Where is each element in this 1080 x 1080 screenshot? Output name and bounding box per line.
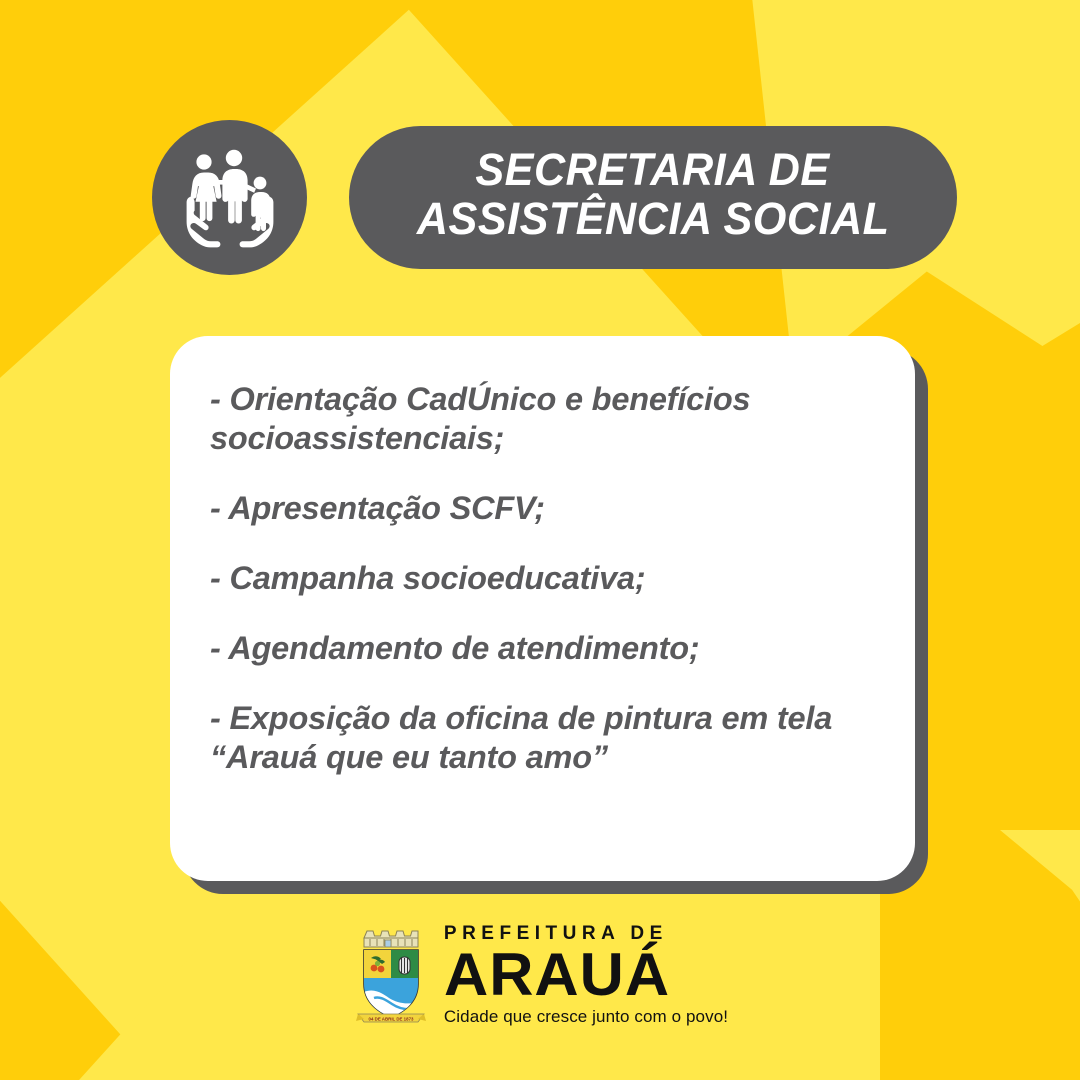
title-pill: SECRETARIA DE ASSISTÊNCIA SOCIAL xyxy=(349,126,957,269)
emblem-badge xyxy=(152,120,307,275)
family-in-hands-icon xyxy=(176,144,284,252)
footer-logo: 04 DE ABRIL DE 1873 PREFEITURA DE ARAUÁ … xyxy=(0,918,1080,1030)
list-item: - Orientação CadÚnico e benefícios socio… xyxy=(210,380,885,458)
list-item: - Agendamento de atendimento; xyxy=(210,629,885,668)
list-item: - Campanha socioeducativa; xyxy=(210,559,885,598)
services-card: - Orientação CadÚnico e benefícios socio… xyxy=(170,336,915,881)
poster-canvas: SECRETARIA DE ASSISTÊNCIA SOCIAL - Orien… xyxy=(0,0,1080,1080)
list-item: - Exposição da oficina de pintura em tel… xyxy=(210,699,885,777)
arauá-coat-of-arms-icon: 04 DE ABRIL DE 1873 xyxy=(352,918,430,1030)
wordmark: PREFEITURA DE ARAUÁ Cidade que cresce ju… xyxy=(444,924,728,1025)
wordmark-city: ARAUÁ xyxy=(444,946,670,1003)
header: SECRETARIA DE ASSISTÊNCIA SOCIAL xyxy=(152,120,957,275)
list-item: - Apresentação SCFV; xyxy=(210,489,885,528)
wordmark-tagline: Cidade que cresce junto com o povo! xyxy=(444,1008,728,1025)
svg-text:04 DE ABRIL DE 1873: 04 DE ABRIL DE 1873 xyxy=(368,1017,413,1022)
title-line-1: SECRETARIA DE xyxy=(476,146,830,195)
title-line-2: ASSISTÊNCIA SOCIAL xyxy=(417,195,890,244)
services-list: - Orientação CadÚnico e benefícios socio… xyxy=(210,380,885,777)
